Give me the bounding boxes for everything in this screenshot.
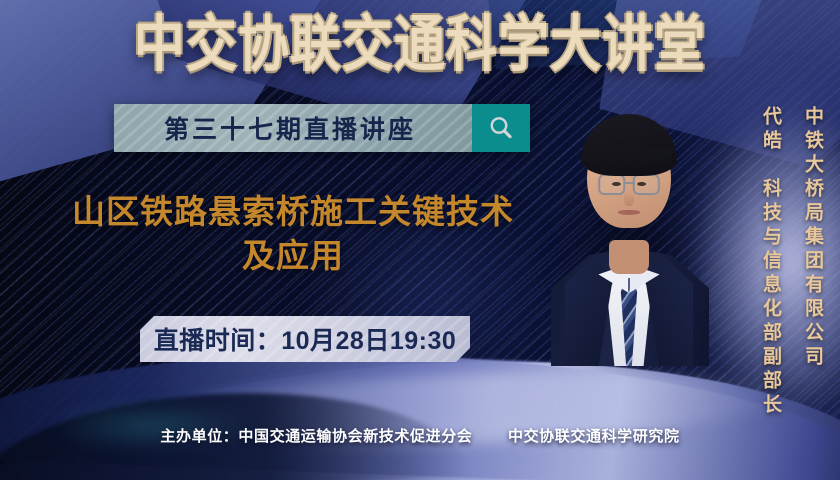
search-badge[interactable] — [472, 104, 530, 152]
search-icon — [486, 113, 516, 143]
episode-banner: 第三十七期直播讲座 — [114, 104, 530, 152]
glasses-icon-right-lens — [633, 174, 660, 195]
portrait-neck — [609, 240, 649, 274]
glasses-icon-left-lens — [598, 174, 625, 195]
topic-line-2: 及应用 — [28, 234, 558, 278]
episode-label-zone: 第三十七期直播讲座 — [114, 104, 472, 152]
page-title: 中交协联交通科学大讲堂 — [0, 14, 840, 75]
speaker-portrait — [549, 98, 709, 366]
speaker-name-role: 代皓 科技与信息化部副部长 — [757, 106, 784, 418]
episode-label: 第三十七期直播讲座 — [164, 110, 422, 146]
schedule-chip: 直播时间：10月28日19:30 — [140, 316, 470, 362]
glasses-icon-bridge — [625, 182, 634, 184]
footer-organizers: 主办单位：中国交通运输协会新技术促进分会 中交协联交通科学研究院 — [0, 425, 840, 446]
schedule-text: 直播时间：10月28日19:30 — [154, 321, 457, 357]
webinar-poster: 中交协联交通科学大讲堂 第三十七期直播讲座 山区铁路悬索桥施工关键技术 及应用 … — [0, 0, 840, 480]
footer-institute: 中交协联交通科学研究院 — [508, 428, 680, 445]
portrait-nose — [624, 192, 634, 206]
topic-line-1: 山区铁路悬索桥施工关键技术 — [28, 190, 558, 234]
footer-host: 主办单位：中国交通运输协会新技术促进分会 — [160, 428, 472, 445]
speaker-organization: 中铁大桥局集团有限公司 — [799, 106, 826, 370]
lecture-topic: 山区铁路悬索桥施工关键技术 及应用 — [28, 190, 558, 278]
portrait-mouth — [618, 210, 640, 215]
